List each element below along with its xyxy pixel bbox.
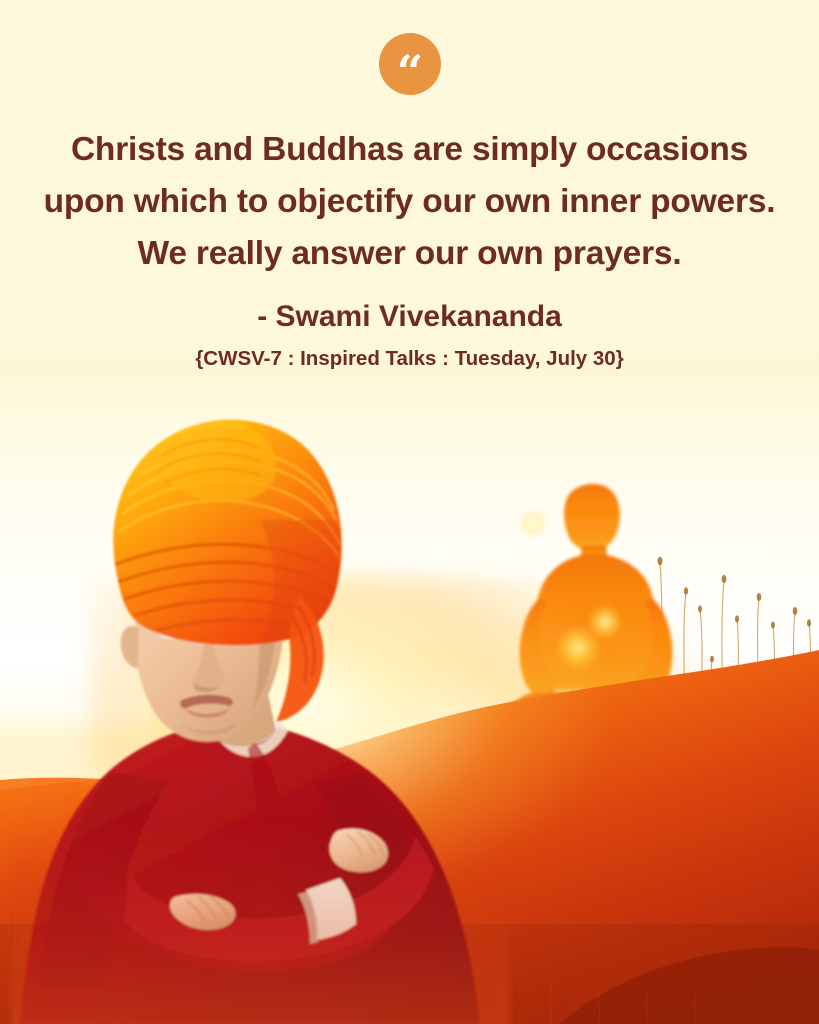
background-photo-scene (0, 330, 819, 1024)
quote-card: “ Christs and Buddhas are simply occasio… (0, 0, 819, 1024)
quote-text: Christs and Buddhas are simply occasions… (40, 124, 779, 280)
quote-source-reference: {CWSV-7 : Inspired Talks : Tuesday, July… (40, 345, 779, 373)
quote-badge: “ (379, 33, 441, 95)
quote-attribution: - Swami Vivekananda (40, 298, 779, 336)
swami-vivekananda-portrait (10, 400, 490, 1024)
